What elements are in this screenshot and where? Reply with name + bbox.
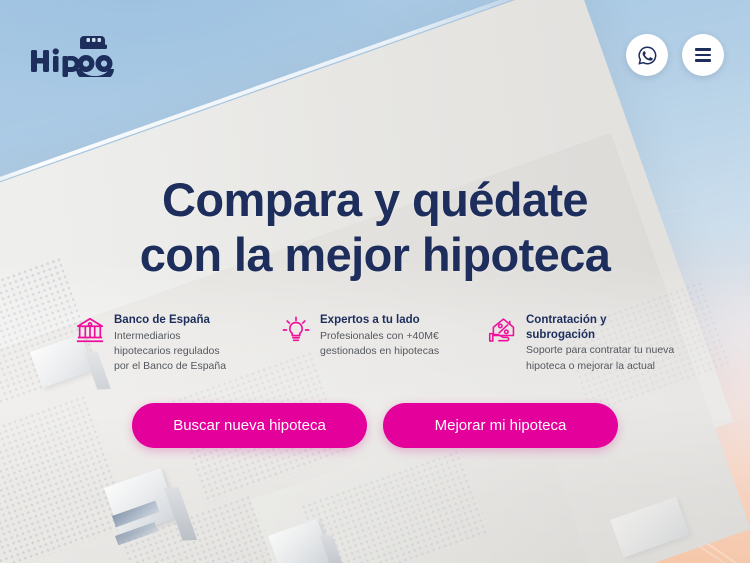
feature-item-expertos-a-tu-lado: Expertos a tu lado Profesionales con +40… [281, 313, 469, 359]
house-percent-hand-icon [487, 315, 517, 345]
feature-list: Banco de España Intermediarios hipotecar… [75, 313, 675, 375]
headline-line-1: Compara y quédate [140, 172, 611, 227]
feature-body: Intermediarios hipotecarios regulados po… [114, 329, 234, 375]
feature-item-banco-de-espana: Banco de España Intermediarios hipotecar… [75, 313, 263, 375]
feature-body: Profesionales con +40M€ gestionados en h… [320, 329, 460, 360]
landing-page: Compara y quédate con la mejor hipoteca … [0, 0, 750, 563]
feature-title: Banco de España [114, 313, 234, 328]
lightbulb-icon [281, 315, 311, 345]
feature-title: Expertos a tu lado [320, 313, 460, 328]
feature-text: Banco de España Intermediarios hipotecar… [114, 313, 234, 375]
page-title: Compara y quédate con la mejor hipoteca [140, 172, 611, 283]
feature-item-contratacion-y-subrogacion: Contratación y subrogación Soporte para … [487, 313, 675, 374]
feature-text: Contratación y subrogación Soporte para … [526, 313, 675, 374]
buscar-nueva-hipoteca-button[interactable]: Buscar nueva hipoteca [132, 403, 367, 448]
bank-icon [75, 315, 105, 345]
feature-title: Contratación y subrogación [526, 313, 675, 342]
cta-group: Buscar nueva hipoteca Mejorar mi hipotec… [132, 403, 618, 448]
mejorar-mi-hipoteca-button[interactable]: Mejorar mi hipoteca [383, 403, 618, 448]
feature-text: Expertos a tu lado Profesionales con +40… [320, 313, 460, 359]
headline-line-2: con la mejor hipoteca [140, 227, 611, 282]
feature-body: Soporte para contratar tu nueva hipoteca… [526, 343, 675, 374]
hero-section: Compara y quédate con la mejor hipoteca … [0, 0, 750, 563]
